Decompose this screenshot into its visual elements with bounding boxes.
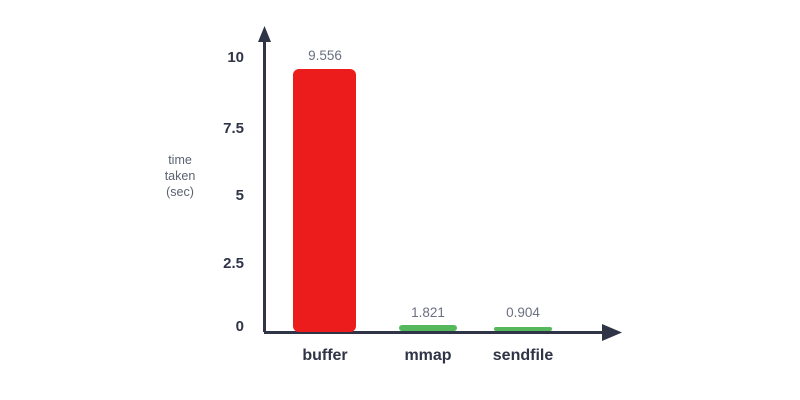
value-label-buffer: 9.556 — [265, 49, 385, 63]
bar-sendfile — [494, 327, 552, 331]
y-tick-label-7-5: 7.5 — [200, 121, 244, 136]
y-tick-label-0: 0 — [200, 319, 244, 334]
y-axis-title-line-1: time — [145, 152, 215, 168]
chart-canvas — [0, 0, 800, 400]
y-axis-title-line-2: taken — [145, 168, 215, 184]
y-tick-label-2-5: 2.5 — [200, 256, 244, 271]
category-label-sendfile: sendfile — [443, 348, 603, 364]
bar-series — [293, 69, 552, 332]
bar-chart: time taken (sec) 10 7.5 5 2.5 0 9.556 1.… — [0, 0, 800, 400]
bar-buffer — [293, 69, 356, 332]
bar-mmap — [399, 325, 457, 331]
y-axis — [258, 26, 271, 332]
y-tick-label-5: 5 — [200, 188, 244, 203]
y-tick-label-10: 10 — [200, 50, 244, 65]
value-label-sendfile: 0.904 — [463, 306, 583, 320]
